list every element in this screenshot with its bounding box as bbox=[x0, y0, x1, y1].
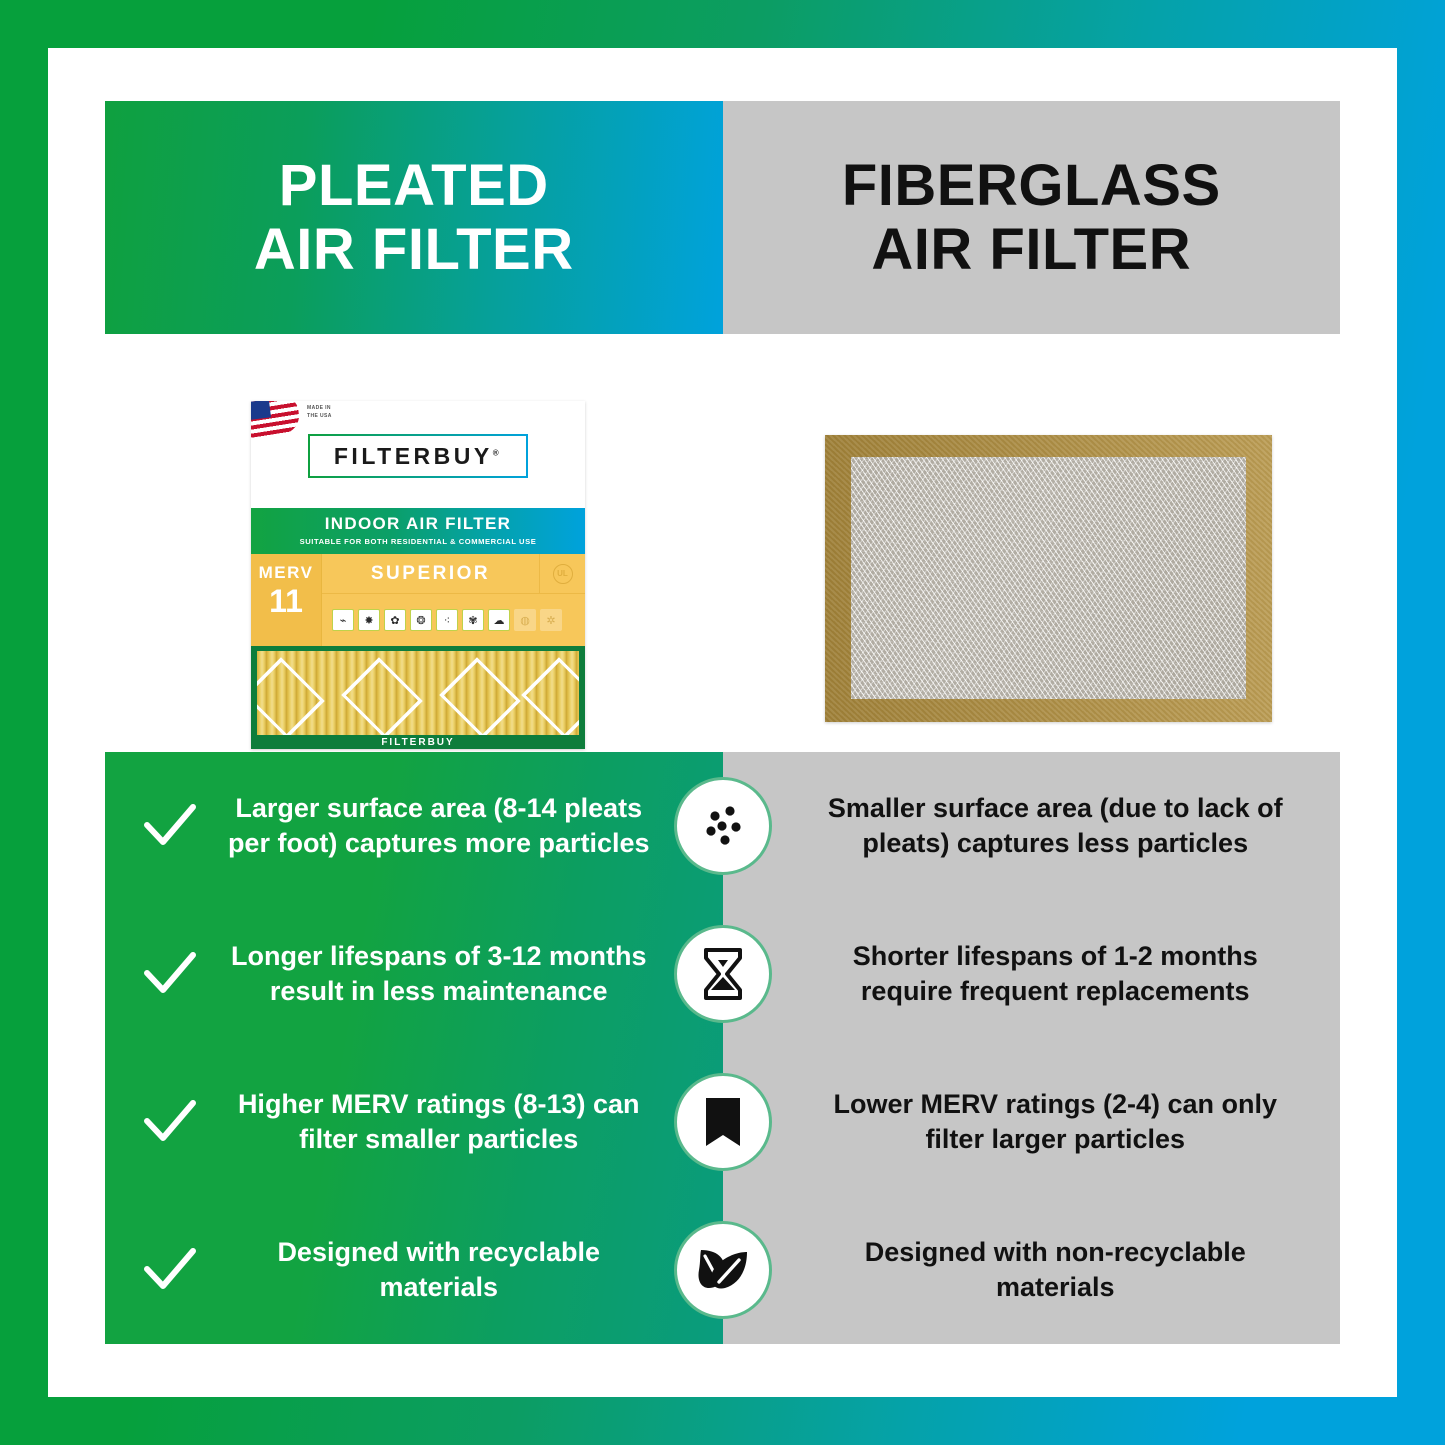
support-diamond bbox=[257, 657, 325, 735]
fiberglass-drawback-text: Shorter lifespans of 1-2 months require … bbox=[807, 939, 1305, 1009]
checkmark-icon bbox=[141, 1241, 199, 1299]
box-band-subtitle: SUITABLE FOR BOTH RESIDENTIAL & COMMERCI… bbox=[251, 537, 585, 546]
bookmark-icon bbox=[674, 1073, 772, 1171]
fiberglass-drawback-text: Smaller surface area (due to lack of ple… bbox=[807, 791, 1305, 861]
header-pleated: PLEATED AIR FILTER bbox=[105, 101, 723, 334]
leaf-icon bbox=[674, 1221, 772, 1319]
filterbuy-logo-text: FILTERBUY® bbox=[334, 443, 502, 470]
merv-label: MERV bbox=[259, 563, 314, 583]
pill-icon: ◍ bbox=[514, 609, 536, 631]
infographic-canvas: PLEATED AIR FILTER FIBERGLASS AIR FILTER bbox=[48, 48, 1397, 1397]
tier-label: SUPERIOR bbox=[322, 563, 539, 585]
dust-icon: ⌁ bbox=[332, 609, 354, 631]
ul-seal-icon: UL bbox=[553, 564, 573, 584]
comparison-row-left: Higher MERV ratings (8-13) can filter sm… bbox=[105, 1048, 723, 1196]
comparison-row-right: Lower MERV ratings (2-4) can only filter… bbox=[723, 1048, 1341, 1196]
ul-seal: UL bbox=[539, 554, 585, 593]
comparison-row: Larger surface area (8-14 pleats per foo… bbox=[105, 752, 1340, 900]
comparison-row-right: Designed with non-recyclable materials bbox=[723, 1196, 1341, 1344]
box-band-title: INDOOR AIR FILTER bbox=[251, 514, 585, 534]
comparison-row-left: Longer lifespans of 3-12 months result i… bbox=[105, 900, 723, 1048]
fiberglass-mesh bbox=[851, 457, 1246, 699]
comparison-row-left: Larger surface area (8-14 pleats per foo… bbox=[105, 752, 723, 900]
comparison-row: Higher MERV ratings (8-13) can filter sm… bbox=[105, 1048, 1340, 1196]
support-diamond bbox=[439, 657, 520, 735]
hourglass-icon bbox=[674, 925, 772, 1023]
mold-icon: ✿ bbox=[384, 609, 406, 631]
header-pleated-line2: AIR FILTER bbox=[254, 218, 574, 282]
filterbuy-box-image: MADE IN THE USA FILTERBUY® INDOOR AIR FI… bbox=[251, 401, 585, 749]
tier-row: SUPERIOR UL bbox=[322, 554, 585, 594]
usa-flag-icon bbox=[251, 401, 301, 438]
box-top-panel: MADE IN THE USA FILTERBUY® bbox=[251, 401, 585, 508]
pleated-benefit-text: Longer lifespans of 3-12 months result i… bbox=[215, 939, 663, 1009]
bacteria-icon: ⁖ bbox=[436, 609, 458, 631]
made-in-line2: THE USA bbox=[307, 413, 332, 421]
comparison-row: Designed with recyclable materials Desig… bbox=[105, 1196, 1340, 1344]
header-pleated-text: PLEATED AIR FILTER bbox=[254, 154, 574, 282]
box-footer-brand: FILTERBUY bbox=[251, 737, 585, 748]
made-in-line1: MADE IN bbox=[307, 405, 332, 413]
checkmark-icon bbox=[141, 945, 199, 1003]
checkmark-icon bbox=[141, 1093, 199, 1151]
comparison-row-left: Designed with recyclable materials bbox=[105, 1196, 723, 1344]
box-gradient-band: INDOOR AIR FILTER SUITABLE FOR BOTH RESI… bbox=[251, 508, 585, 554]
pleated-benefit-text: Larger surface area (8-14 pleats per foo… bbox=[215, 791, 663, 861]
headers-band: PLEATED AIR FILTER FIBERGLASS AIR FILTER bbox=[105, 101, 1340, 334]
support-diamond bbox=[521, 657, 579, 735]
fiberglass-product-cell bbox=[723, 334, 1341, 752]
header-pleated-line1: PLEATED bbox=[254, 154, 574, 218]
gradient-border-frame: PLEATED AIR FILTER FIBERGLASS AIR FILTER bbox=[0, 0, 1445, 1445]
virus-icon: ✲ bbox=[540, 609, 562, 631]
filtration-icon-row: ⌁ ✸ ✿ ❂ ⁖ ✾ ☁ ◍ ✲ bbox=[322, 594, 585, 646]
checkmark-icon bbox=[141, 797, 199, 855]
comparison-rows: Larger surface area (8-14 pleats per foo… bbox=[105, 752, 1340, 1344]
header-fiberglass-line2: AIR FILTER bbox=[842, 218, 1221, 282]
header-fiberglass-text: FIBERGLASS AIR FILTER bbox=[842, 154, 1221, 282]
product-images-band: MADE IN THE USA FILTERBUY® INDOOR AIR FI… bbox=[105, 334, 1340, 752]
pollen-icon: ❂ bbox=[410, 609, 432, 631]
box-filter-face: FILTERBUY bbox=[251, 646, 585, 749]
pleated-benefit-text: Designed with recyclable materials bbox=[215, 1235, 663, 1305]
pet-dander-icon: ✾ bbox=[462, 609, 484, 631]
header-fiberglass: FIBERGLASS AIR FILTER bbox=[723, 101, 1341, 334]
pleated-benefit-text: Higher MERV ratings (8-13) can filter sm… bbox=[215, 1087, 663, 1157]
pleated-product-cell: MADE IN THE USA FILTERBUY® INDOOR AIR FI… bbox=[105, 334, 723, 752]
merv-value: 11 bbox=[269, 585, 303, 617]
box-gold-right: SUPERIOR UL ⌁ ✸ ✿ ❂ ⁖ bbox=[322, 554, 585, 646]
support-diamond bbox=[341, 657, 422, 735]
insect-icon: ✸ bbox=[358, 609, 380, 631]
fiberglass-drawback-text: Lower MERV ratings (2-4) can only filter… bbox=[807, 1087, 1305, 1157]
comparison-row-right: Smaller surface area (due to lack of ple… bbox=[723, 752, 1341, 900]
comparison-row: Longer lifespans of 3-12 months result i… bbox=[105, 900, 1340, 1048]
filterbuy-logo: FILTERBUY® bbox=[308, 434, 528, 478]
merv-badge: MERV 11 bbox=[251, 554, 322, 646]
pleated-media bbox=[257, 651, 579, 735]
particles-icon bbox=[674, 777, 772, 875]
fiberglass-filter-image bbox=[825, 435, 1272, 722]
made-in-usa-label: MADE IN THE USA bbox=[307, 405, 332, 420]
smoke-icon: ☁ bbox=[488, 609, 510, 631]
comparison-row-right: Shorter lifespans of 1-2 months require … bbox=[723, 900, 1341, 1048]
fiberglass-drawback-text: Designed with non-recyclable materials bbox=[807, 1235, 1305, 1305]
box-gold-panel: MERV 11 SUPERIOR UL ⌁ bbox=[251, 554, 585, 646]
header-fiberglass-line1: FIBERGLASS bbox=[842, 154, 1221, 218]
